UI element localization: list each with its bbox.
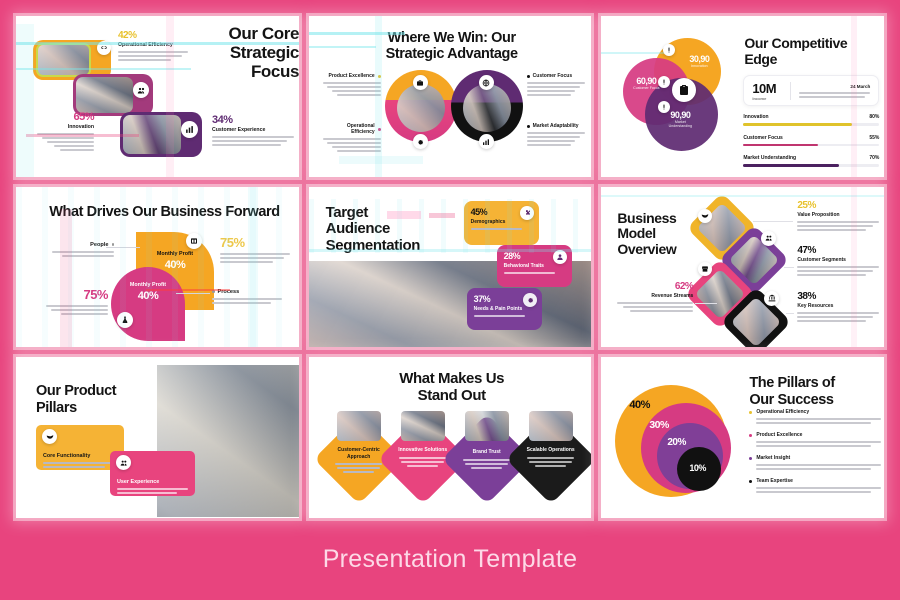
gear-icon [413,134,428,149]
diamond-label-1: Customer-Centric Approach [331,447,387,473]
page-title: What Makes Us Stand Out [357,371,547,405]
card-user-experience[interactable]: User Experience [110,451,195,496]
bullet-icon [527,75,530,78]
progress-list: Innovation 80% Customer Focus 55% [743,114,879,167]
item-market-adaptability: Market Adaptability [527,123,585,146]
people-icon [133,82,149,98]
bird-icon [698,209,712,223]
legend-list: Operational Efficiency Product Excellenc… [749,409,881,493]
legend-item: Market Insight [749,455,881,470]
slide-what-drives-our-business-forward[interactable]: What Drives Our Business Forward Monthly… [16,187,299,348]
diamond-label-2: Innovative Solutions [395,447,451,466]
page-title: Our Product Pillars [36,383,148,415]
grid-icon [186,233,202,249]
bullet-icon [749,480,752,483]
bullet-icon [112,243,115,246]
bird-icon [42,429,57,444]
people-icon [116,455,131,470]
shop-icon [698,262,712,276]
slide-where-we-win[interactable]: Where We Win: Our Strategic Advantage [309,16,592,177]
ring-value-30: 30% [649,419,669,431]
bullet-icon [749,434,752,437]
highlight-card[interactable]: 10M Income 24 March [743,75,879,106]
leaf-label-pink: Monthly Profit 40% [113,282,183,302]
user-icon [553,250,567,264]
link-icon [97,41,111,55]
progress-track [743,123,879,126]
item-product-excellence: Product Excellence [323,73,381,96]
stat-left-bottom: 75% [46,287,108,315]
label-people: People [52,242,114,257]
progress-fill [743,164,838,167]
footer-text: Presentation Template [323,545,578,574]
page-title: Where We Win: Our Strategic Advantage [337,30,567,62]
footer: Presentation Template [0,518,900,600]
legend-item: Team Expertise [749,478,881,493]
slide-target-audience-segmentation[interactable]: Target Audience Segmentation 45% Demogra… [309,187,592,348]
briefcase-icon [413,75,428,90]
gear-icon [523,293,537,307]
diamond-label-4: Scalable Operations [523,447,579,466]
diamond-label-3: Brand Trust [459,449,515,468]
item-customer-focus: Customer Focus [527,73,585,96]
stat-block-3: 34% Customer Experience [212,114,294,146]
stat-right-top: 75% [220,235,290,263]
stat-block-1: 42% Operational Efficiency [118,30,188,61]
card-needs-pain-points[interactable]: 37% Needs & Pain Points [467,288,542,330]
stat-key-resources: 38% Key Resources [797,291,879,322]
card-demographics[interactable]: 45% Demographics [464,201,539,245]
leaf-shape-pink [111,267,185,341]
label-process: Process [212,289,282,304]
diamond-photo [401,411,445,441]
ring-value-20: 20% [667,437,686,448]
diamond-photo [337,411,381,441]
connector-line [176,293,210,294]
bullet-icon [749,411,752,414]
item-operational-efficiency: Operational Efficiency [323,123,381,152]
globe-icon [479,75,494,90]
card-behavioral-traits[interactable]: 28% Behavioral Traits [497,245,572,287]
ring-value-10: 10% [689,463,706,473]
bullet-icon [378,75,381,78]
slide-the-pillars-of-our-success[interactable]: 40% 30% 20% 10% The Pillars of Our Succe… [601,357,884,518]
bullet-icon [527,125,530,128]
stat-revenue-streams: 62% Revenue Streams [617,281,693,312]
legend-item: Operational Efficiency [749,409,881,424]
stat-customer-segments: 47% Customer Segments [797,245,879,276]
chart-icon [181,121,198,138]
bullet-icon [212,290,215,293]
progress-track [743,164,879,167]
page-title: The Pillars of Our Success [749,375,879,407]
stat-block-2: 65% Innovation [32,111,94,151]
diamond-photo [529,411,573,441]
progress-row: Market Understanding 70% [743,155,879,167]
people-icon [761,231,776,246]
progress-track [743,144,879,147]
chart-icon [479,134,494,149]
page-title: Target Audience Segmentation [326,205,456,255]
bubble-label-innovation: 30,90 Innovation [679,54,719,68]
progress-row: Customer Focus 55% [743,135,879,147]
bank-icon [764,291,779,306]
progress-fill [743,144,818,147]
slide-business-model-overview[interactable]: Business Model Overview [601,187,884,348]
connector-line [106,247,140,248]
puzzle-icon [520,206,534,220]
diamond-photo [465,411,509,441]
slide-our-competitive-edge[interactable]: 30,90 Innovation 60,90 Customer Focus 90… [601,16,884,177]
page-title: Our Competitive Edge [744,36,870,67]
page-title: What Drives Our Business Forward [32,204,297,220]
slide-our-product-pillars[interactable]: Our Product Pillars Core Functionality U… [16,357,299,518]
slide-what-makes-us-stand-out[interactable]: What Makes Us Stand Out Customer-Centric… [309,357,592,518]
slide-grid: Our Core Strategic Focus 42% Operational… [16,16,884,518]
flask-icon [117,312,133,328]
progress-fill [743,123,852,126]
ring-value-40: 40% [629,399,650,411]
bullet-icon [749,457,752,460]
slide-our-core-strategic-focus[interactable]: Our Core Strategic Focus 42% Operational… [16,16,299,177]
progress-row: Innovation 80% [743,114,879,126]
bullet-icon [378,128,381,131]
legend-item: Product Excellence [749,432,881,447]
stat-value-proposition: 25% Value Proposition [797,200,879,231]
